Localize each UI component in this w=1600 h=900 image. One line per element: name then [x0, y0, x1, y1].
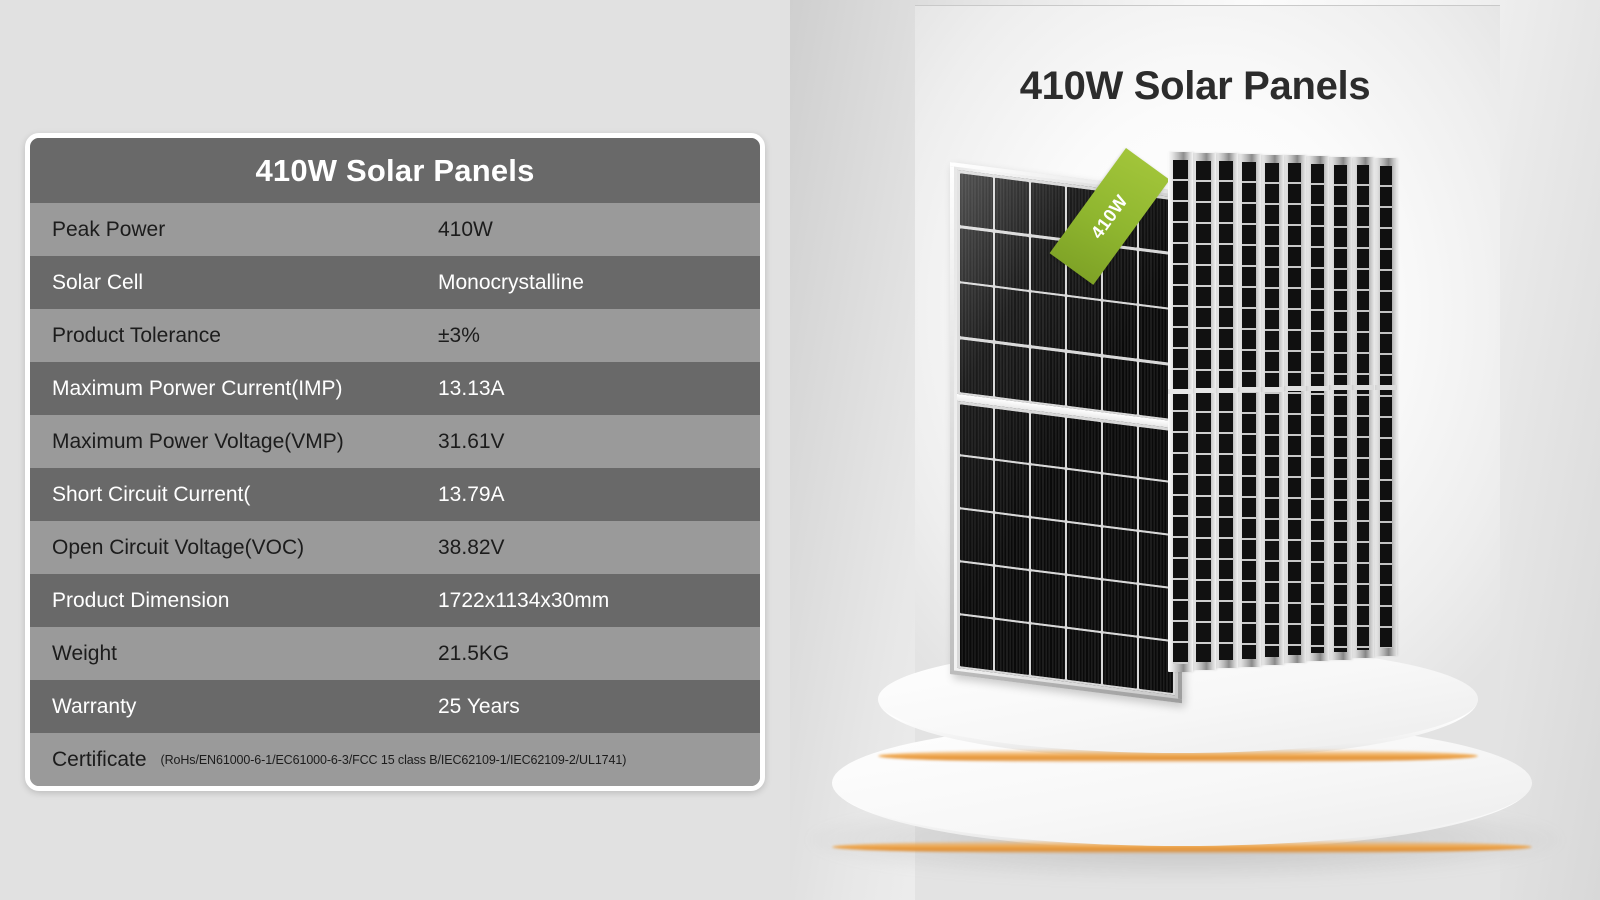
rear-solar-panel	[1168, 152, 1193, 672]
spec-row-value: 13.13A	[438, 377, 505, 401]
rear-panel-busbar	[1375, 385, 1397, 390]
solar-cell	[960, 404, 993, 459]
spec-row-value: 38.82V	[438, 536, 505, 560]
rear-panel-busbar	[1306, 386, 1329, 391]
solar-cell	[960, 173, 993, 230]
solar-cell	[960, 283, 993, 340]
spec-row-value: 410W	[438, 218, 493, 242]
solar-cell	[1103, 302, 1136, 359]
solar-cell	[1067, 576, 1100, 631]
solar-cell	[1067, 297, 1100, 354]
solar-cell	[1103, 528, 1136, 583]
solar-cell	[1031, 519, 1064, 574]
solar-cell	[995, 177, 1028, 234]
solar-cell	[995, 343, 1028, 400]
solar-cell	[1031, 413, 1064, 468]
rear-panel-cells	[1334, 165, 1347, 652]
product-image-panel: 410W Solar Panels	[790, 0, 1600, 900]
spec-row: Solar CellMonocrystalline	[30, 256, 760, 309]
rear-panel-cells	[1311, 164, 1324, 653]
solar-cell	[1031, 182, 1064, 239]
solar-cell	[1103, 357, 1136, 414]
spec-row: Maximum Porwer Current(IMP)13.13A	[30, 362, 760, 415]
spec-row: Short Circuit Current(13.79A	[30, 468, 760, 521]
spec-row-label: Maximum Power Voltage(VMP)	[52, 430, 344, 454]
rear-panel-cells	[1173, 160, 1188, 664]
certificate-label: Certificate	[52, 748, 147, 772]
spec-row: Warranty25 Years	[30, 680, 760, 733]
solar-cell	[995, 620, 1028, 675]
solar-cell	[995, 233, 1028, 290]
rear-panel-cells	[1219, 161, 1233, 660]
product-spec-sheet: 410W Solar Panels Peak Power410WSolar Ce…	[0, 0, 1600, 900]
spec-card-header: 410W Solar Panels	[30, 138, 760, 203]
rear-solar-panel	[1329, 157, 1352, 660]
rear-solar-panel	[1352, 157, 1374, 657]
spec-table-body: Peak Power410WSolar CellMonocrystallineP…	[30, 203, 760, 733]
wattage-ribbon-label: 410W	[1087, 191, 1133, 243]
spec-row-label: Short Circuit Current(	[52, 483, 250, 507]
solar-cell	[995, 288, 1028, 345]
solar-cell	[960, 562, 993, 617]
solar-cell	[1067, 417, 1100, 472]
spec-card: 410W Solar Panels Peak Power410WSolar Ce…	[25, 133, 765, 791]
rear-panel-busbar	[1260, 387, 1284, 392]
solar-panel-stack: 410W	[950, 140, 1410, 685]
solar-cell	[1031, 348, 1064, 405]
solar-cell	[1067, 352, 1100, 409]
spec-row: Product Dimension1722x1134x30mm	[30, 574, 760, 627]
solar-cell	[960, 339, 993, 396]
spec-row-value: 31.61V	[438, 430, 505, 454]
spec-row-value: 13.79A	[438, 483, 505, 507]
rear-panel-busbar	[1329, 385, 1352, 390]
rear-panel-busbar	[1191, 388, 1216, 393]
spec-row-label: Open Circuit Voltage(VOC)	[52, 536, 304, 560]
solar-cell	[1067, 629, 1100, 684]
rear-panel-cells	[1265, 163, 1279, 657]
rear-solar-panel	[1214, 153, 1238, 668]
solar-cell	[1031, 624, 1064, 679]
solar-cell	[995, 461, 1028, 516]
rear-panel-cells	[1196, 161, 1211, 663]
rear-solar-panel	[1375, 158, 1397, 656]
spec-row: Maximum Power Voltage(VMP)31.61V	[30, 415, 760, 468]
spec-row-value: 1722x1134x30mm	[438, 589, 609, 613]
spec-card-title: 410W Solar Panels	[255, 153, 534, 189]
rear-solar-panel	[1283, 155, 1306, 663]
solar-cell	[1103, 633, 1136, 688]
spec-row: Peak Power410W	[30, 203, 760, 256]
solar-cell	[1103, 422, 1136, 477]
spec-row-value: 21.5KG	[438, 642, 509, 666]
spec-row-label: Weight	[52, 642, 117, 666]
solar-cell	[995, 408, 1028, 463]
rear-panel-busbar	[1168, 389, 1193, 394]
left-panel: 410W Solar Panels Peak Power410WSolar Ce…	[0, 0, 790, 900]
rear-solar-panel	[1191, 153, 1216, 671]
spec-row-label: Peak Power	[52, 218, 165, 242]
solar-cell	[995, 514, 1028, 569]
solar-cell	[1103, 581, 1136, 636]
spec-row-certificate: Certificate (RoHs/EN61000-6-1/EC61000-6-…	[30, 733, 760, 786]
solar-cell	[960, 615, 993, 670]
rear-panel-busbar	[1352, 385, 1374, 390]
spec-row-label: Product Dimension	[52, 589, 229, 613]
rear-panel-cells	[1242, 162, 1256, 659]
solar-cell	[960, 510, 993, 565]
spec-row-value: ±3%	[438, 324, 480, 348]
solar-cell	[1031, 293, 1064, 350]
rear-panel-busbar	[1237, 387, 1261, 392]
rear-panel-cells	[1357, 165, 1369, 649]
solar-cell	[1067, 470, 1100, 525]
cell-grid-bottom	[957, 401, 1175, 695]
rear-solar-panel	[1237, 154, 1261, 667]
solar-cell	[1067, 523, 1100, 578]
spec-row-label: Product Tolerance	[52, 324, 221, 348]
solar-cell	[960, 228, 993, 285]
rear-solar-panel	[1306, 156, 1329, 661]
spec-row-label: Solar Cell	[52, 271, 143, 295]
rear-panel-cells	[1380, 166, 1392, 648]
spec-row-value: 25 Years	[438, 695, 520, 719]
certificate-value: (RoHs/EN61000-6-1/EC61000-6-3/FCC 15 cla…	[161, 753, 627, 767]
spec-row-value: Monocrystalline	[438, 271, 584, 295]
solar-cell	[995, 567, 1028, 622]
hero-title: 410W Solar Panels	[790, 64, 1600, 109]
solar-cell	[1031, 571, 1064, 626]
rear-solar-panel	[1260, 155, 1284, 665]
spec-row: Product Tolerance±3%	[30, 309, 760, 362]
spec-row-label: Warranty	[52, 695, 136, 719]
spec-row: Open Circuit Voltage(VOC)38.82V	[30, 521, 760, 574]
solar-cell	[1103, 475, 1136, 530]
rear-panel-busbar	[1214, 388, 1238, 393]
solar-cell	[1031, 466, 1064, 521]
rear-panel-cells	[1288, 163, 1301, 655]
spec-row: Weight21.5KG	[30, 627, 760, 680]
solar-cell	[960, 457, 993, 512]
rear-panel-busbar	[1283, 386, 1306, 391]
spec-row-label: Maximum Porwer Current(IMP)	[52, 377, 343, 401]
